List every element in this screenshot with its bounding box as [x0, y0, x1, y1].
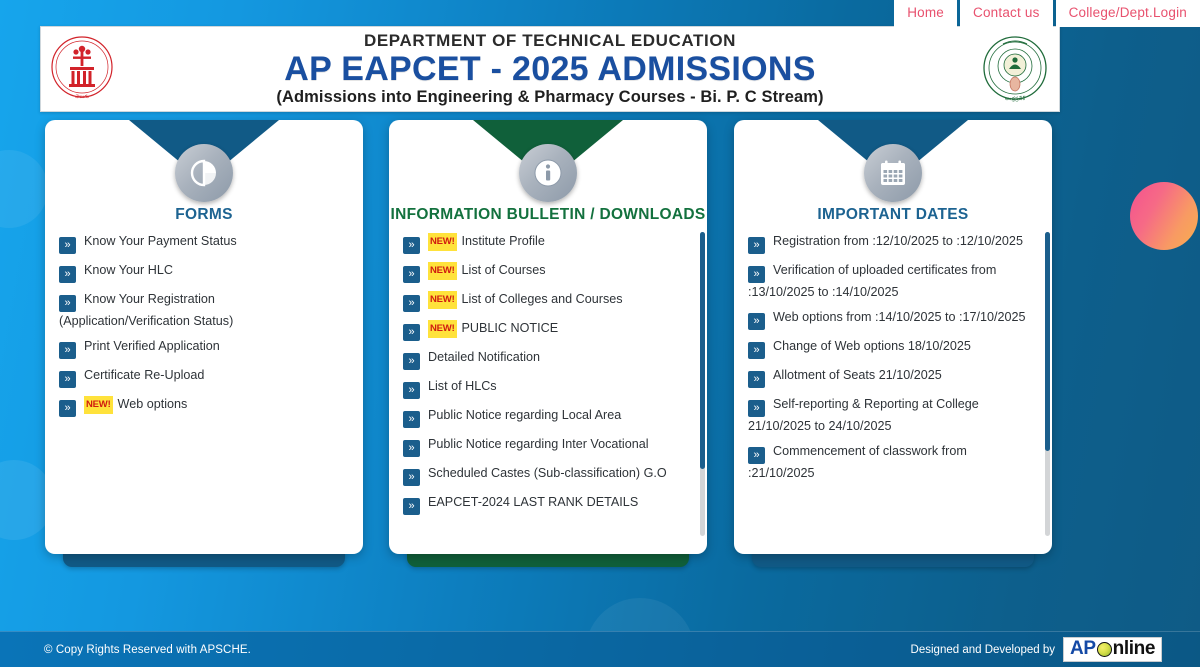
banner-text-block: DEPARTMENT OF TECHNICAL EDUCATION AP EAP…: [276, 32, 823, 106]
banner-department: DEPARTMENT OF TECHNICAL EDUCATION: [276, 32, 823, 49]
new-badge: NEW!: [428, 233, 457, 251]
apsche-logo-icon: తెలుగు: [49, 32, 115, 111]
chevron-right-icon: »: [748, 313, 765, 330]
new-badge: NEW!: [428, 291, 457, 309]
chevron-right-icon: »: [748, 400, 765, 417]
footer-credit-block: Designed and Developed by AP nline: [911, 637, 1162, 662]
list-item-label: Certificate Re-Upload: [84, 368, 204, 382]
list-item-label: Registration from :12/10/2025 to :12/10/…: [773, 234, 1023, 248]
list-item[interactable]: »NEW!Web options: [59, 395, 339, 417]
list-item[interactable]: »Allotment of Seats 21/10/2025: [748, 366, 1028, 388]
chevron-right-icon: »: [403, 353, 420, 370]
chevron-right-icon: »: [748, 371, 765, 388]
list-item[interactable]: »Know Your HLC: [59, 261, 339, 283]
list-item-label: Scheduled Castes (Sub-classification) G.…: [428, 466, 667, 480]
list-item-label: Allotment of Seats 21/10/2025: [773, 368, 942, 382]
scrollbar-thumb[interactable]: [700, 232, 705, 469]
banner-subtitle: (Admissions into Engineering & Pharmacy …: [276, 89, 823, 106]
card-list-forms: »Know Your Payment Status»Know Your HLC»…: [59, 232, 353, 540]
chevron-right-icon: »: [403, 382, 420, 399]
chevron-right-icon: »: [748, 447, 765, 464]
chevron-right-icon: »: [59, 371, 76, 388]
list-item[interactable]: »Scheduled Castes (Sub-classification) G…: [403, 464, 683, 486]
chevron-right-icon: »: [403, 237, 420, 254]
card-forms: FORMS »Know Your Payment Status»Know You…: [45, 120, 363, 554]
list-item[interactable]: »EAPCET-2024 LAST RANK DETAILS: [403, 493, 683, 515]
pie-chart-icon: [175, 144, 233, 202]
card-title-important-dates: IMPORTANT DATES: [734, 206, 1052, 224]
card-list-information-bulletin: »NEW!Institute Profile»NEW!List of Cours…: [403, 232, 697, 540]
list-item-label: PUBLIC NOTICE: [462, 321, 559, 335]
aponline-logo-ap: AP: [1070, 639, 1096, 659]
chevron-right-icon: »: [59, 342, 76, 359]
list-item-label: Public Notice regarding Local Area: [428, 408, 621, 422]
card-title-forms: FORMS: [45, 206, 363, 224]
background-blob-left-top: [0, 150, 48, 228]
card-list-important-dates: »Registration from :12/10/2025 to :12/10…: [748, 232, 1042, 540]
chevron-right-icon: »: [403, 411, 420, 428]
new-badge: NEW!: [84, 396, 113, 414]
aponline-logo-nline: nline: [1113, 639, 1155, 659]
card-information-bulletin: INFORMATION BULLETIN / DOWNLOADS »NEW!In…: [389, 120, 707, 554]
footer-copyright: © Copy Rights Reserved with APSCHE.: [44, 644, 251, 656]
info-circle-icon: [519, 144, 577, 202]
scrollbar-thumb[interactable]: [1045, 232, 1050, 451]
list-item-label: List of Courses: [462, 263, 546, 277]
list-item[interactable]: »Know Your Registration (Application/Ver…: [59, 290, 339, 330]
list-item[interactable]: »Public Notice regarding Inter Vocationa…: [403, 435, 683, 457]
list-item-label: EAPCET-2024 LAST RANK DETAILS: [428, 495, 638, 509]
chevron-right-icon: »: [748, 342, 765, 359]
list-item[interactable]: »List of HLCs: [403, 377, 683, 399]
chevron-right-icon: »: [403, 440, 420, 457]
nav-college-dept-login[interactable]: College/Dept.Login: [1056, 0, 1200, 27]
page-title: AP EAPCET - 2025 ADMISSIONS: [276, 52, 823, 86]
new-badge: NEW!: [428, 262, 457, 280]
list-item-label: Know Your Payment Status: [84, 234, 237, 248]
card-title-information-bulletin: INFORMATION BULLETIN / DOWNLOADS: [389, 206, 707, 224]
list-item[interactable]: »Public Notice regarding Local Area: [403, 406, 683, 428]
list-item-label: Print Verified Application: [84, 339, 220, 353]
chevron-right-icon: »: [59, 295, 76, 312]
svg-text:ఆంధ్రప్రదేశ్: ఆంధ్రప్రదేశ్: [1005, 95, 1026, 102]
list-item[interactable]: »Change of Web options 18/10/2025: [748, 337, 1028, 359]
chevron-right-icon: »: [59, 237, 76, 254]
chevron-right-icon: »: [403, 295, 420, 312]
chevron-right-icon: »: [403, 498, 420, 515]
list-item[interactable]: »NEW!Institute Profile: [403, 232, 683, 254]
chevron-right-icon: »: [59, 400, 76, 417]
chevron-right-icon: »: [403, 324, 420, 341]
list-item[interactable]: »Registration from :12/10/2025 to :12/10…: [748, 232, 1028, 254]
svg-text:తెలుగు: తెలుగు: [75, 94, 89, 100]
nav-home[interactable]: Home: [894, 0, 957, 27]
ap-government-emblem-icon: ఆంధ్రప్రదేశ్: [979, 32, 1051, 111]
chevron-right-icon: »: [403, 266, 420, 283]
list-item[interactable]: »Detailed Notification: [403, 348, 683, 370]
scrollbar-important-dates[interactable]: [1045, 232, 1050, 536]
list-item-label: Change of Web options 18/10/2025: [773, 339, 971, 353]
list-item[interactable]: »NEW!PUBLIC NOTICE: [403, 319, 683, 341]
list-item-label: Detailed Notification: [428, 350, 540, 364]
list-item-label: Institute Profile: [462, 234, 545, 248]
list-item-label: Public Notice regarding Inter Vocational: [428, 437, 649, 451]
list-item[interactable]: »Verification of uploaded certificates f…: [748, 261, 1028, 301]
chevron-right-icon: »: [59, 266, 76, 283]
list-item[interactable]: »NEW!List of Courses: [403, 261, 683, 283]
list-item-label: Web options from :14/10/2025 to :17/10/2…: [773, 310, 1026, 324]
header-banner: తెలుగు DEPARTMENT OF TECHNICAL EDUCATION…: [40, 26, 1060, 112]
list-item-label: Commencement of classwork from :21/10/20…: [748, 444, 967, 480]
card-important-dates: IMPORTANT DATES »Registration from :12/1…: [734, 120, 1052, 554]
list-item-label: Web options: [118, 397, 188, 411]
list-item[interactable]: »Commencement of classwork from :21/10/2…: [748, 442, 1028, 482]
list-item-label: List of HLCs: [428, 379, 497, 393]
background-gradient-circle: [1130, 182, 1198, 250]
list-item-label: Self-reporting & Reporting at College 21…: [748, 397, 979, 433]
chevron-right-icon: »: [748, 266, 765, 283]
list-item-label: Verification of uploaded certificates fr…: [748, 263, 996, 299]
footer: © Copy Rights Reserved with APSCHE. Desi…: [0, 631, 1200, 667]
scrollbar-information-bulletin[interactable]: [700, 232, 705, 536]
aponline-logo[interactable]: AP nline: [1063, 637, 1162, 662]
list-item-label: Know Your HLC: [84, 263, 173, 277]
list-item[interactable]: »Web options from :14/10/2025 to :17/10/…: [748, 308, 1028, 330]
nav-contact-us[interactable]: Contact us: [960, 0, 1053, 27]
chevron-right-icon: »: [748, 237, 765, 254]
list-item[interactable]: »Self-reporting & Reporting at College 2…: [748, 395, 1028, 435]
list-item[interactable]: »Know Your Payment Status: [59, 232, 339, 254]
list-item[interactable]: »Print Verified Application: [59, 337, 339, 359]
footer-credit-text: Designed and Developed by: [911, 644, 1056, 656]
list-item-label: Know Your Registration (Application/Veri…: [59, 292, 233, 328]
new-badge: NEW!: [428, 320, 457, 338]
calendar-icon: [864, 144, 922, 202]
top-navigation: Home Contact us College/Dept.Login: [894, 0, 1200, 27]
list-item[interactable]: »Certificate Re-Upload: [59, 366, 339, 388]
list-item-label: List of Colleges and Courses: [462, 292, 623, 306]
chevron-right-icon: »: [403, 469, 420, 486]
globe-icon: [1097, 642, 1112, 657]
list-item[interactable]: »NEW!List of Colleges and Courses: [403, 290, 683, 312]
